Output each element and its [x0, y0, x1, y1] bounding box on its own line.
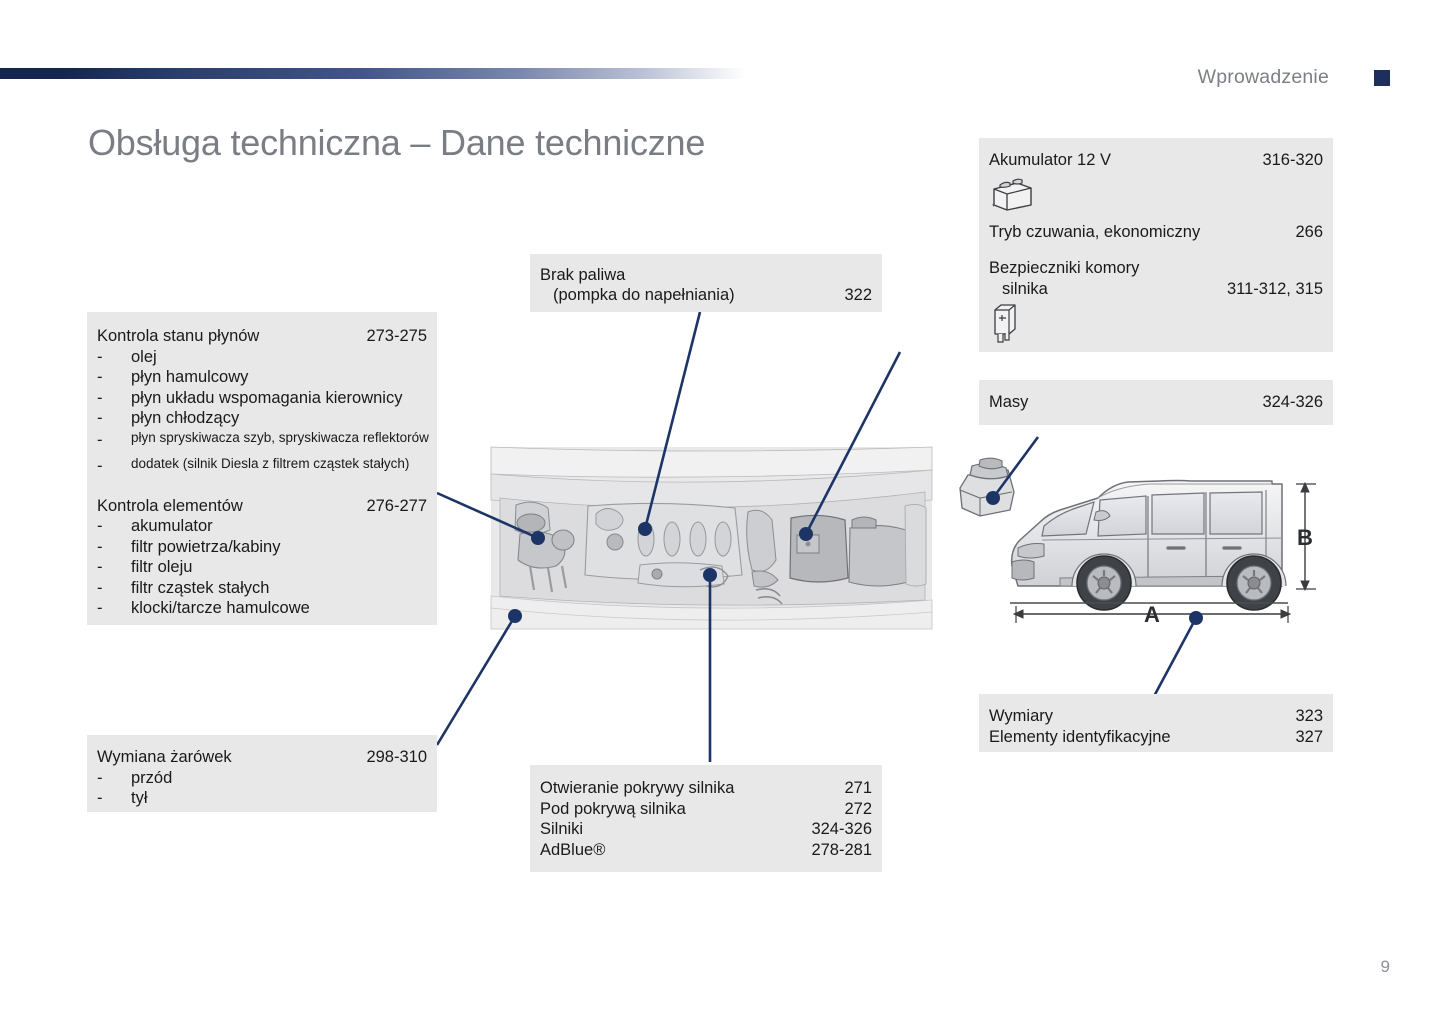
list-item-label: płyn hamulcowy	[131, 367, 248, 387]
dash-marker: -	[97, 537, 131, 557]
spacer	[97, 479, 427, 496]
row-label: Pod pokrywą silnika	[540, 799, 844, 820]
standby-pages: 266	[1295, 222, 1323, 243]
masses-pages: 324-326	[1262, 392, 1323, 413]
fluids-title-row: Kontrola stanu płynów 273-275	[97, 326, 427, 347]
dimension-indicators	[1014, 483, 1316, 623]
engine-bay-illustration	[491, 447, 932, 629]
dash-marker: -	[97, 428, 131, 453]
vehicle-side-view-illustration	[1010, 481, 1288, 611]
dash-marker: -	[97, 347, 131, 367]
row-pages: 271	[844, 778, 872, 799]
list-item: - olej	[97, 347, 427, 367]
dimension-label-b: B	[1297, 525, 1313, 550]
table-row: Otwieranie pokrywy silnika 271	[540, 778, 872, 799]
list-item: - płyn układu wspomagania kierownicy	[97, 388, 427, 408]
row-pages: 278-281	[811, 840, 872, 861]
manual-page: Wprowadzenie Obsługa techniczna – Dane t…	[0, 0, 1445, 1019]
fluids-title: Kontrola stanu płynów	[97, 326, 366, 347]
list-item-label: filtr powietrza/kabiny	[131, 537, 280, 557]
blade-fuse-icon	[989, 302, 1023, 344]
fuses-title: Bezpieczniki komory	[989, 259, 1139, 277]
bonnet-box: Otwieranie pokrywy silnika 271 Pod pokry…	[530, 765, 882, 872]
masses-title: Masy	[989, 392, 1262, 413]
battery-pages: 316-320	[1262, 150, 1323, 171]
fuel-title-row: Brak paliwa	[540, 265, 872, 285]
list-item-label: płyn spryskiwacza szyb, spryskiwacza ref…	[131, 428, 429, 453]
table-row: Wymiary 323	[989, 706, 1323, 727]
list-item: - filtr oleju	[97, 557, 427, 577]
row-label: Wymiary	[989, 706, 1295, 727]
bulbs-title-row: Wymiana żarówek 298-310	[97, 747, 427, 768]
list-item-label: płyn układu wspomagania kierownicy	[131, 388, 402, 408]
masses-box: Masy 324-326	[979, 380, 1333, 425]
list-item: - przód	[97, 768, 427, 788]
fuses-pages: 311-312, 315	[1227, 279, 1323, 300]
dash-marker: -	[97, 367, 131, 387]
fluids-checks-box: Kontrola stanu płynów 273-275 - olej - p…	[87, 312, 437, 625]
fuses-title-row: Bezpieczniki komory	[989, 258, 1323, 278]
list-item: - akumulator	[97, 516, 427, 536]
page-number: 9	[1381, 957, 1390, 977]
list-item-label: tył	[131, 788, 148, 808]
components-title-row: Kontrola elementów 276-277	[97, 496, 427, 517]
dash-marker: -	[97, 788, 131, 808]
section-marker-icon	[1374, 70, 1390, 86]
list-item: - filtr powietrza/kabiny	[97, 537, 427, 557]
list-item-label: olej	[131, 347, 157, 367]
list-item: - tył	[97, 788, 427, 808]
list-item-label: przód	[131, 768, 172, 788]
row-label: Otwieranie pokrywy silnika	[540, 778, 844, 799]
masses-row: Masy 324-326	[989, 392, 1323, 413]
table-row: Silniki 324-326	[540, 819, 872, 840]
row-pages: 327	[1295, 727, 1323, 748]
fuel-empty-box: Brak paliwa (pompka do napełniania) 322	[530, 254, 882, 312]
bulb-replacement-box: Wymiana żarówek 298-310 - przód - tył	[87, 735, 437, 812]
standby-label: Tryb czuwania, ekonomiczny	[989, 222, 1295, 243]
fuel-subtitle-row: (pompka do napełniania) 322	[540, 285, 872, 306]
row-pages: 323	[1295, 706, 1323, 727]
list-item-label: płyn chłodzący	[131, 408, 239, 428]
list-item: - dodatek (silnik Diesla z filtrem cząst…	[97, 454, 427, 479]
battery-title-row: Akumulator 12 V 316-320	[989, 150, 1323, 171]
row-label: Elementy identyfikacyjne	[989, 727, 1295, 748]
list-item: - klocki/tarcze hamulcowe	[97, 598, 427, 618]
list-item-label: filtr cząstek stałych	[131, 578, 269, 598]
list-item: - płyn chłodzący	[97, 408, 427, 428]
dash-marker: -	[97, 557, 131, 577]
car-battery-icon	[989, 175, 1035, 213]
standby-row: Tryb czuwania, ekonomiczny 266	[989, 222, 1323, 243]
table-row: AdBlue® 278-281	[540, 840, 872, 861]
oil-filler-cap-illustration	[960, 458, 1014, 516]
battery-fuses-box: Akumulator 12 V 316-320 Tryb czuwania, e…	[979, 138, 1333, 352]
dimension-label-a: A	[1144, 602, 1160, 627]
row-pages: 272	[844, 799, 872, 820]
table-row: Pod pokrywą silnika 272	[540, 799, 872, 820]
list-item: - płyn spryskiwacza szyb, spryskiwacza r…	[97, 428, 427, 453]
row-label: Silniki	[540, 819, 811, 840]
fluids-pages: 273-275	[366, 326, 427, 347]
dash-marker: -	[97, 388, 131, 408]
fuses-subtitle-row: silnika 311-312, 315	[989, 279, 1323, 300]
list-item: - płyn hamulcowy	[97, 367, 427, 387]
dash-marker: -	[97, 598, 131, 618]
row-pages: 324-326	[811, 819, 872, 840]
table-row: Elementy identyfikacyjne 327	[989, 727, 1323, 748]
bulbs-pages: 298-310	[366, 747, 427, 768]
list-item-label: dodatek (silnik Diesla z filtrem cząstek…	[131, 454, 409, 479]
battery-title: Akumulator 12 V	[989, 150, 1262, 171]
fuel-title: Brak paliwa	[540, 266, 625, 284]
dash-marker: -	[97, 578, 131, 598]
list-item: - filtr cząstek stałych	[97, 578, 427, 598]
dash-marker: -	[97, 454, 131, 479]
row-label: AdBlue®	[540, 840, 811, 861]
page-title: Obsługa techniczna – Dane techniczne	[88, 122, 705, 164]
fuses-subtitle: silnika	[1002, 279, 1227, 300]
dash-marker: -	[97, 408, 131, 428]
components-pages: 276-277	[366, 496, 427, 517]
leader-line-dots	[508, 491, 1203, 625]
section-title: Wprowadzenie	[1198, 66, 1329, 89]
list-item-label: akumulator	[131, 516, 213, 536]
dash-marker: -	[97, 768, 131, 788]
dash-marker: -	[97, 516, 131, 536]
fuel-pages: 322	[844, 285, 872, 306]
components-title: Kontrola elementów	[97, 496, 366, 517]
bulbs-title: Wymiana żarówek	[97, 747, 366, 768]
fuses-group: Bezpieczniki komory silnika 311-312, 315	[989, 258, 1323, 299]
fuel-subtitle: (pompka do napełniania)	[553, 285, 844, 306]
list-item-label: klocki/tarcze hamulcowe	[131, 598, 310, 618]
header-gradient-rule	[0, 68, 745, 79]
list-item-label: filtr oleju	[131, 557, 192, 577]
dimensions-box: Wymiary 323 Elementy identyfikacyjne 327	[979, 694, 1333, 752]
